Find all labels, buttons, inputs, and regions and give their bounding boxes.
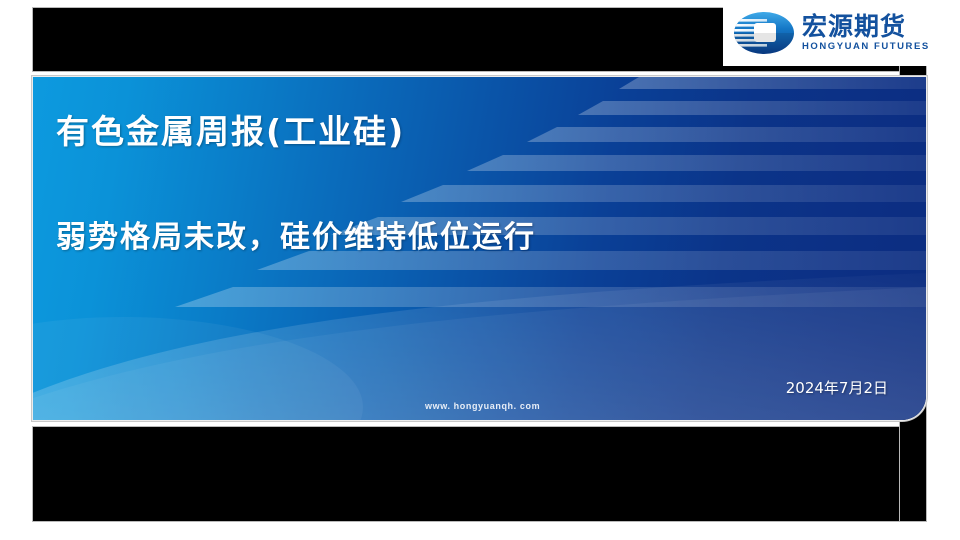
letterbox-bar-bottom [33,427,926,521]
cover-panel: 有色金属周报(工业硅) 弱势格局未改，硅价维持低位运行 2024年7月2日 ww… [33,77,926,420]
logo-name-en: HONGYUAN FUTURES [802,42,930,52]
slide-canvas: 宏源期货 HONGYUAN FUTURES [0,0,960,540]
page-subtitle: 弱势格局未改，硅价维持低位运行 [56,212,536,256]
page-title: 有色金属周报(工业硅) [56,105,405,153]
report-date: 2024年7月2日 [786,377,888,398]
logo-name-cn: 宏源期货 [802,14,930,39]
logo-wordmark: 宏源期货 HONGYUAN FUTURES [802,14,930,52]
hongyuan-circle-logo-icon [733,11,795,55]
company-logo: 宏源期货 HONGYUAN FUTURES [723,0,960,66]
website-watermark: www. hongyuanqh. com [425,401,540,411]
